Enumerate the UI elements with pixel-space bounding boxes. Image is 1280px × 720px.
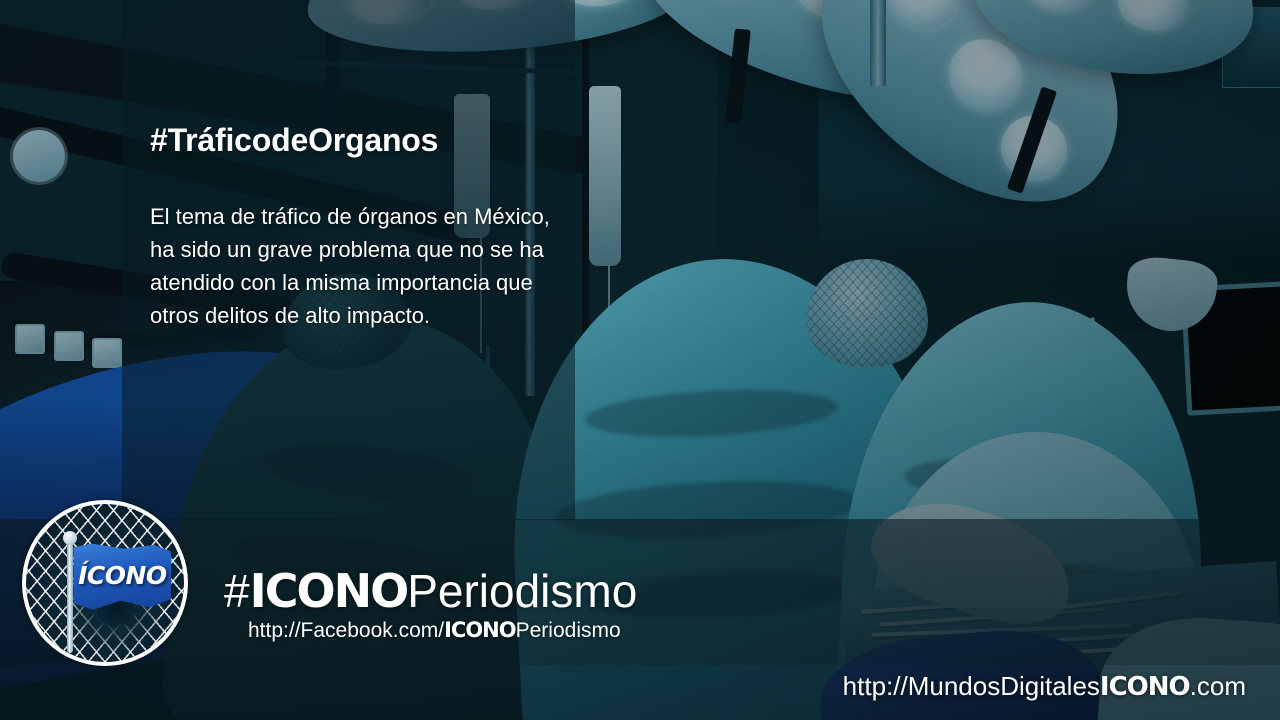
url-prefix: http://Facebook.com/ (248, 619, 444, 642)
footer-url-prefix: http://MundosDigitales (843, 671, 1100, 701)
footer-url-tail: .com (1190, 671, 1246, 701)
url-tail: Periodismo (516, 619, 621, 642)
social-media-graphic: #TráficodeOrganos El tema de tráfico de … (0, 0, 1280, 720)
flagpole-finial-icon (63, 531, 77, 545)
logo-circle-ring: ÍCONO (22, 500, 188, 666)
url-stencil-word: ICONO (444, 618, 516, 642)
page-title: #TráficodeOrganos (150, 122, 438, 159)
website-url[interactable]: http://MundosDigitalesICONO.com (843, 671, 1246, 702)
body-text: El tema de tráfico de órganos en México,… (150, 200, 550, 332)
branding-band (0, 519, 1280, 665)
brand-hashtag: #ICONOPeriodismo (224, 566, 637, 616)
logo-flag-label: ÍCONO (73, 561, 171, 590)
icono-logo[interactable]: ÍCONO (22, 500, 188, 666)
flagpole-icon (67, 536, 73, 653)
brand-block: #ICONOPeriodismo http://Facebook.com/ICO… (224, 566, 637, 643)
brand-stencil-word: ICONO (250, 564, 408, 618)
flag-icon: ÍCONO (73, 544, 171, 610)
facebook-url[interactable]: http://Facebook.com/ICONOPeriodismo (248, 618, 637, 643)
hash-symbol: # (224, 565, 250, 617)
footer-url-stencil-word: ICONO (1100, 672, 1190, 702)
brand-tail-word: Periodismo (407, 565, 637, 617)
